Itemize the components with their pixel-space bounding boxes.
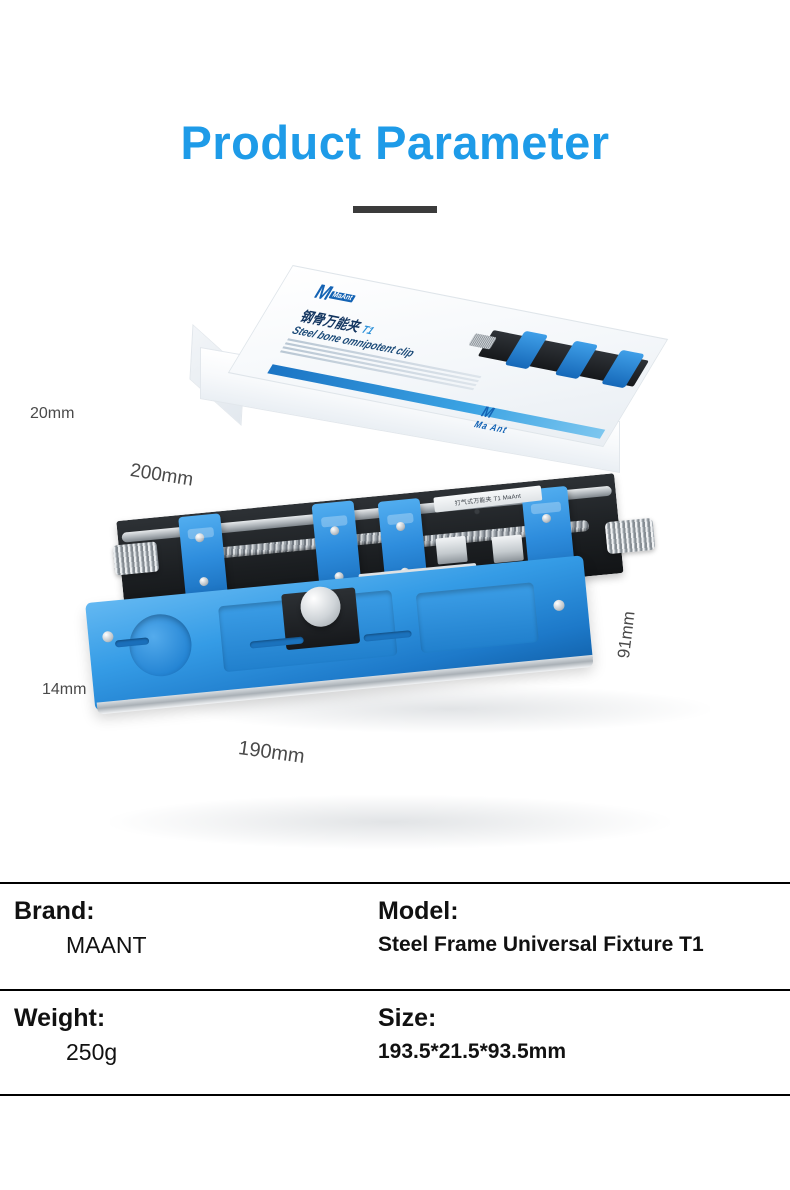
- spec-cell-weight: Weight: 250g: [0, 991, 370, 1094]
- product-illustration: MMaAnt 钢骨万能夹 T1 Steel bone omnipotent cl…: [0, 255, 790, 870]
- spec-value-model: Steel Frame Universal Fixture T1: [378, 931, 790, 958]
- spec-key-model: Model:: [378, 896, 790, 927]
- jaw-pin: [330, 526, 340, 536]
- spec-value-size: 193.5*21.5*93.5mm: [378, 1038, 790, 1065]
- spec-key-brand: Brand:: [14, 896, 370, 927]
- jaw-pin: [542, 514, 552, 524]
- spec-cell-brand: Brand: MAANT: [0, 884, 370, 989]
- page-title: Product Parameter: [0, 118, 790, 167]
- package-height-label: 20mm: [30, 405, 74, 423]
- table-row: Brand: MAANT Model: Steel Frame Universa…: [0, 884, 790, 989]
- table-row: Weight: 250g Size: 193.5*21.5*93.5mm: [0, 989, 790, 1094]
- spec-key-weight: Weight:: [14, 1003, 370, 1034]
- fixture-rect-recess: [416, 582, 539, 653]
- fixture-knob-right: [605, 518, 656, 554]
- jaw-pin: [199, 577, 209, 587]
- spec-value-brand: MAANT: [14, 931, 370, 961]
- fixture-knob-left: [113, 541, 160, 575]
- jaw-pin: [396, 522, 406, 532]
- spec-cell-size: Size: 193.5*21.5*93.5mm: [370, 991, 790, 1094]
- fixture-steel-block: [492, 534, 524, 563]
- jaw-pin: [195, 533, 205, 543]
- spec-key-size: Size:: [378, 1003, 790, 1034]
- retail-package: MMaAnt 钢骨万能夹 T1 Steel bone omnipotent cl…: [178, 280, 718, 510]
- title-divider-rule: [353, 206, 437, 213]
- fixture-pin: [553, 599, 565, 611]
- spec-cell-model: Model: Steel Frame Universal Fixture T1: [370, 884, 790, 989]
- fixture-thickness-label: 14mm: [42, 681, 86, 699]
- fixture-steel-block: [435, 536, 467, 565]
- specification-table: Brand: MAANT Model: Steel Frame Universa…: [0, 882, 790, 1096]
- product-parameter-page: Product Parameter MMaAnt 钢骨万能夹 T1 Steel …: [0, 0, 790, 1190]
- fixture-pin: [102, 631, 114, 643]
- spec-value-weight: 250g: [14, 1038, 370, 1068]
- title-block: Product Parameter: [0, 118, 790, 213]
